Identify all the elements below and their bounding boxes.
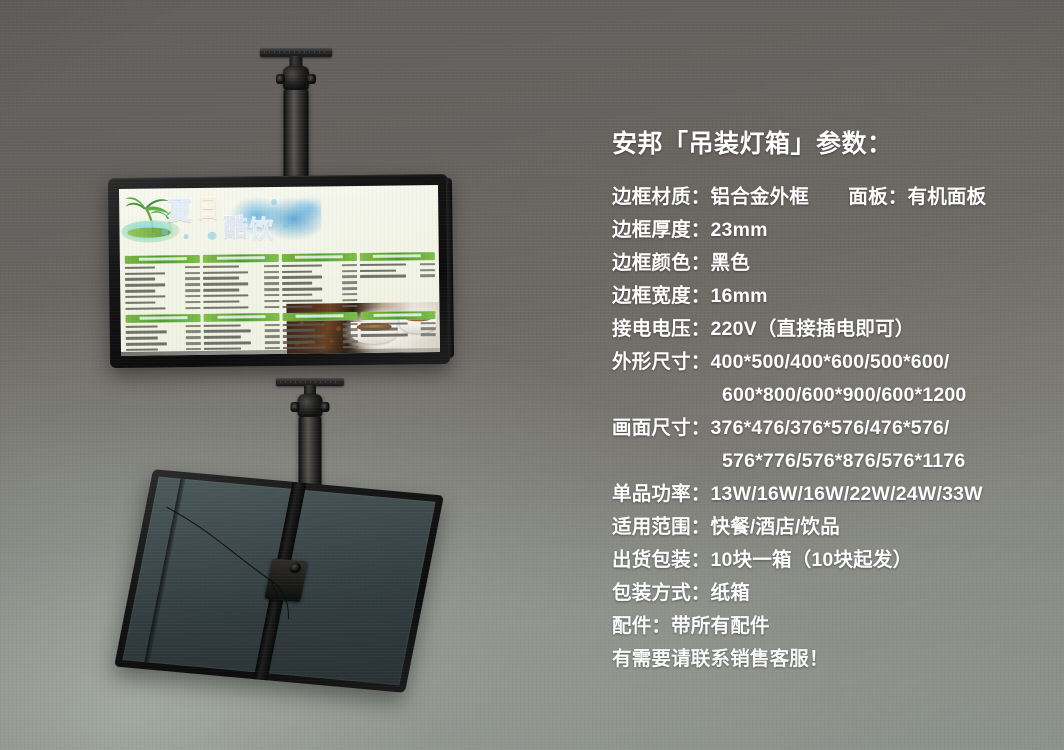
menu-item-name — [282, 323, 324, 326]
menu-item-row — [204, 304, 279, 310]
spec-panel: 安邦「吊装灯箱」参数： 边框材质：铝合金外框 面板：有机面板边框厚度：23mm边… — [612, 124, 1042, 676]
bubble-icon — [161, 228, 168, 235]
menu-item-price — [186, 325, 201, 328]
menu-item-price — [421, 322, 436, 325]
menu-item-price — [342, 270, 357, 273]
menu-item-row — [360, 273, 435, 279]
menu-item-name — [282, 329, 314, 332]
bubble-icon — [271, 199, 277, 205]
menu-item-price — [264, 300, 279, 303]
menu-item-price — [420, 275, 435, 278]
spec-line: 边框宽度：16mm — [612, 280, 1042, 313]
menu-section-header — [360, 311, 435, 320]
bubble-icon — [184, 234, 189, 239]
poster-title-char-3: 酷 — [223, 215, 247, 239]
menu-section-header — [282, 312, 357, 321]
menu-item-name — [360, 322, 407, 325]
menu-item-name — [281, 264, 322, 267]
menu-item-name — [125, 307, 165, 310]
poster-header-art: 夏 日 酷 饮 — [119, 187, 318, 256]
upper-lightbox: 夏 日 酷 饮 — [108, 174, 450, 368]
spec-line: 600*800/600*900/600*1200 — [612, 379, 1042, 412]
menu-item-price — [185, 272, 200, 275]
menu-item-name — [282, 335, 324, 338]
menu-item-price — [420, 263, 435, 266]
menu-section-header — [281, 253, 356, 262]
menu-item-name — [203, 283, 248, 286]
spec-line: 包装方式：纸箱 — [612, 577, 1042, 610]
menu-item-price — [264, 294, 279, 297]
menu-item-price — [264, 341, 279, 344]
product-photo-stage: 夏 日 酷 饮 — [0, 0, 1064, 750]
menu-section — [360, 252, 436, 310]
poster-title-char-2: 日 — [195, 196, 220, 221]
menu-item-name — [204, 294, 249, 297]
menu-item-name — [204, 306, 249, 309]
menu-item-price — [185, 266, 200, 269]
lightbox-frame-rear — [114, 469, 444, 693]
menu-section — [126, 314, 202, 354]
menu-item-price — [342, 275, 357, 278]
swivel-knuckle-icon — [298, 394, 323, 419]
spec-line: 画面尺寸：376*476/376*576/476*576/ — [612, 412, 1042, 445]
menu-item-name — [282, 282, 313, 285]
menu-section-header — [204, 313, 279, 322]
menu-item-price — [342, 264, 357, 267]
power-cable — [122, 477, 435, 686]
bubble-icon — [208, 232, 217, 240]
menu-item-price — [264, 276, 279, 279]
menu-item-name — [125, 290, 155, 293]
menu-item-name — [360, 263, 406, 266]
menu-item-name — [204, 330, 251, 333]
spec-line: 边框颜色：黑色 — [612, 247, 1042, 280]
menu-item-price — [421, 333, 436, 336]
menu-item-name — [204, 342, 251, 345]
spec-line: 576*776/576*876/576*1176 — [612, 445, 1042, 478]
menu-item-price — [186, 307, 201, 310]
menu-item-name — [126, 343, 167, 346]
menu-item-price — [264, 329, 279, 332]
menu-item-price — [342, 281, 357, 284]
menu-item-price — [264, 282, 279, 285]
menu-item-price — [186, 342, 201, 345]
menu-item-name — [281, 270, 312, 273]
menu-section — [204, 313, 280, 353]
menu-section — [360, 311, 436, 351]
menu-item-name — [282, 341, 314, 344]
menu-item-name — [125, 284, 165, 287]
menu-item-price — [342, 299, 357, 302]
menu-item-name — [126, 325, 158, 328]
menu-item-row — [361, 332, 436, 338]
menu-item-price — [264, 335, 279, 338]
menu-item-price — [263, 271, 278, 274]
menu-item-name — [203, 277, 238, 280]
menu-item-name — [204, 300, 239, 303]
menu-item-name — [360, 269, 396, 272]
menu-poster: 夏 日 酷 饮 — [119, 185, 440, 356]
menu-item-price — [186, 336, 201, 339]
menu-item-name — [203, 265, 238, 268]
menu-item-name — [204, 324, 241, 327]
menu-item-name — [125, 278, 155, 281]
spec-title: 安邦「吊装灯箱」参数： — [612, 124, 1042, 160]
spec-line: 边框厚度：23mm — [612, 214, 1042, 247]
menu-section — [203, 254, 279, 312]
menu-item-price — [185, 289, 200, 292]
menu-item-name — [360, 275, 406, 278]
menu-section-header — [203, 254, 278, 263]
menu-item-price — [343, 334, 358, 337]
menu-item-name — [125, 295, 165, 298]
menu-item-price — [264, 288, 279, 291]
menu-item-name — [360, 328, 398, 331]
menu-item-name — [126, 337, 158, 340]
spec-line: 外形尺寸：400*500/400*600/500*600/ — [612, 346, 1042, 379]
lightbox-rear-face — [122, 477, 435, 686]
menu-item-name — [203, 271, 248, 274]
menu-sections — [125, 252, 436, 354]
menu-section-header — [126, 314, 201, 323]
menu-item-name — [125, 272, 165, 275]
bubble-icon — [283, 223, 288, 228]
menu-item-name — [282, 299, 323, 302]
menu-item-price — [186, 330, 201, 333]
poster-title-char-4: 饮 — [249, 217, 273, 241]
menu-item-price — [263, 265, 278, 268]
menu-item-row — [282, 303, 357, 309]
menu-item-price — [342, 323, 357, 326]
menu-item-name — [282, 305, 313, 308]
menu-section-header — [360, 252, 435, 261]
spec-line: 出货包装：10块一箱（10块起发） — [612, 544, 1042, 577]
menu-item-name — [282, 288, 323, 291]
spec-line: 适用范围：快餐/酒店/饮品 — [612, 511, 1042, 544]
menu-item-price — [342, 287, 357, 290]
menu-section — [282, 312, 358, 352]
menu-item-name — [126, 331, 167, 334]
menu-item-price — [185, 283, 200, 286]
swivel-knuckle-icon — [283, 66, 309, 92]
menu-item-price — [264, 306, 279, 309]
menu-item-price — [342, 329, 357, 332]
lightbox-frame: 夏 日 酷 饮 — [108, 174, 450, 368]
spec-line: 配件：带所有配件 — [612, 610, 1042, 643]
lower-lightbox — [114, 469, 444, 693]
poster-title: 夏 日 酷 饮 — [167, 193, 298, 247]
menu-item-name — [361, 334, 408, 337]
spec-line: 单品功率：13W/16W/16W/22W/24W/33W — [612, 478, 1042, 511]
menu-item-name — [282, 294, 313, 297]
ceiling-mount-upper — [236, 48, 356, 188]
menu-item-name — [204, 336, 241, 339]
menu-item-price — [420, 269, 435, 272]
menu-section — [281, 253, 357, 311]
spec-line: 接电电压：220V（直接插电即可） — [612, 313, 1042, 346]
menu-item-name — [203, 289, 238, 292]
menu-item-price — [264, 324, 279, 327]
menu-item-price — [342, 293, 357, 296]
poster-title-char-1: 夏 — [167, 198, 192, 223]
menu-item-name — [125, 266, 155, 269]
menu-item-name — [125, 301, 155, 304]
menu-item-price — [186, 295, 201, 298]
menu-item-price — [421, 328, 436, 331]
menu-section-header — [125, 255, 200, 264]
menu-item-price — [185, 277, 200, 280]
menu-item-price — [343, 340, 358, 343]
menu-item-price — [342, 305, 357, 308]
menu-item-price — [186, 301, 201, 304]
menu-item-row — [125, 305, 200, 311]
spec-list: 边框材质：铝合金外框 面板：有机面板边框厚度：23mm边框颜色：黑色边框宽度：1… — [612, 181, 1042, 676]
menu-section — [125, 255, 201, 313]
spec-line: 边框材质：铝合金外框 面板：有机面板 — [612, 181, 1042, 214]
menu-item-name — [282, 276, 323, 279]
spec-line: 有需要请联系销售客服！ — [612, 643, 1042, 676]
